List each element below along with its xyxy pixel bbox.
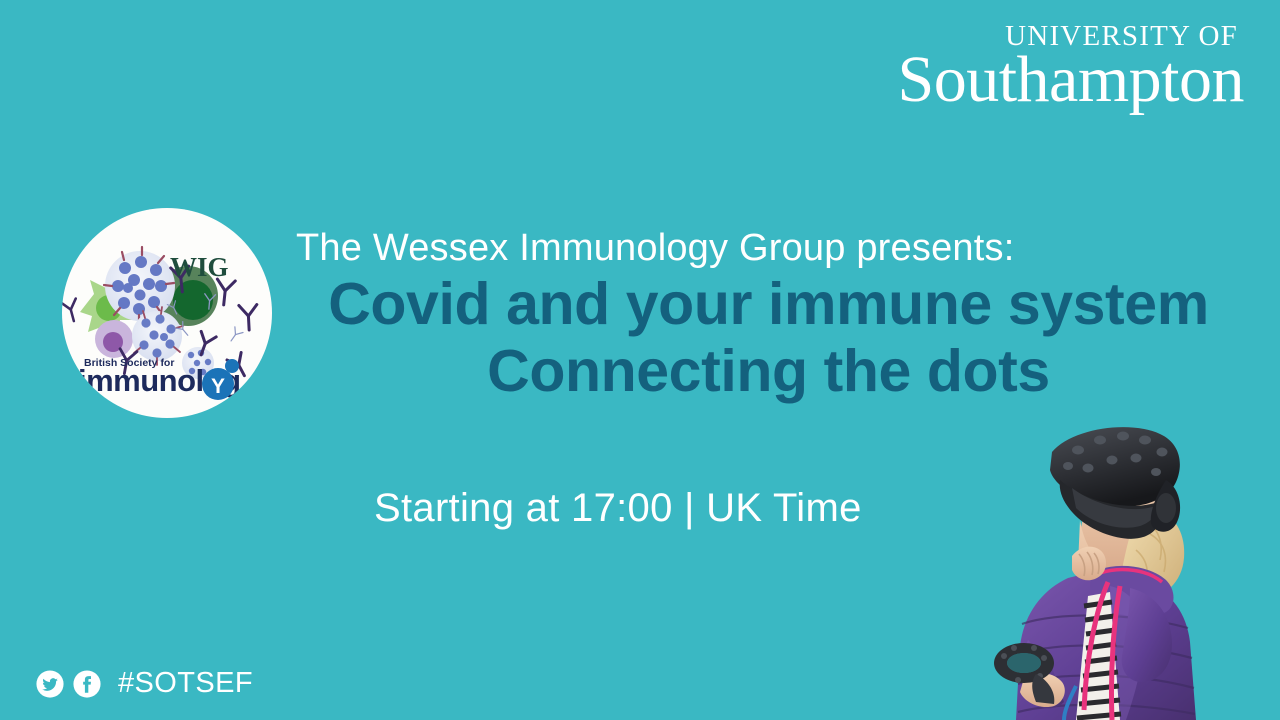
social-footer: #SOTSEF xyxy=(36,667,253,700)
talk-title-line-2: Connecting the dots xyxy=(296,338,1241,405)
bsi-mark-dot xyxy=(225,359,239,373)
twitter-icon[interactable] xyxy=(36,670,64,698)
university-name-text: Southampton xyxy=(897,47,1244,113)
bsi-wig-logo-artwork: WIG British Society for immunolog Y xyxy=(62,208,272,418)
bsi-mark-letter: Y xyxy=(211,375,225,398)
talk-title: Covid and your immune system Connecting … xyxy=(296,271,1241,404)
headline-block: The Wessex Immunology Group presents: Co… xyxy=(296,228,1246,404)
talk-title-line-1: Covid and your immune system xyxy=(296,271,1241,338)
start-time-text: Starting at 17:00 | UK Time xyxy=(374,486,862,531)
wig-text: WIG xyxy=(170,252,229,282)
vr-person-artwork xyxy=(980,410,1280,720)
bsi-wig-logo: WIG British Society for immunolog Y xyxy=(62,208,272,418)
vr-headset-person-photo xyxy=(980,410,1280,720)
hashtag-text: #SOTSEF xyxy=(118,667,253,700)
university-logo: UNIVERSITY OF Southampton xyxy=(897,22,1244,113)
facebook-icon[interactable] xyxy=(73,670,101,698)
presents-line: The Wessex Immunology Group presents: xyxy=(296,228,1246,269)
